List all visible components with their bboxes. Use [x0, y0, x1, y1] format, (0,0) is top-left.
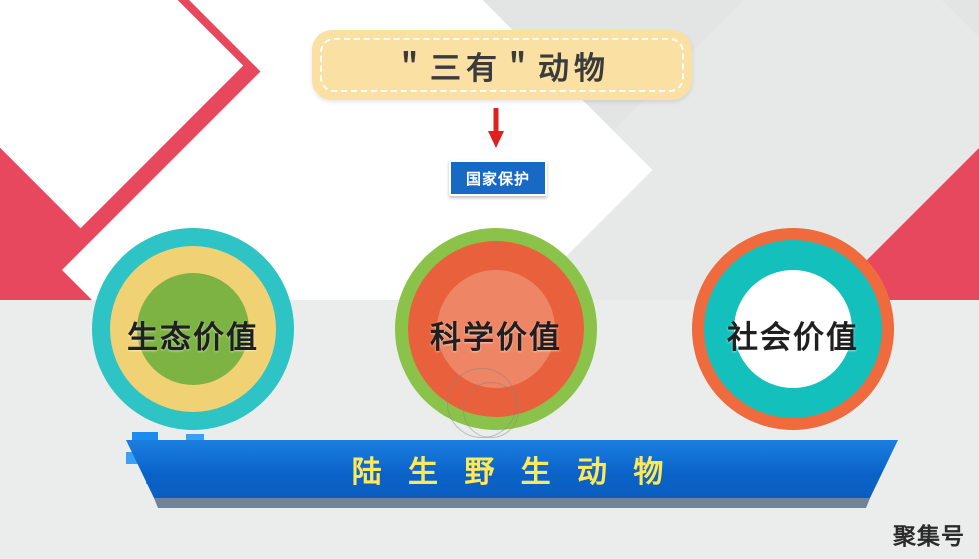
value-label-ecological: 生态价值	[63, 312, 323, 357]
national-protection-label: 国家保护	[449, 160, 547, 196]
national-protection-text: 国家保护	[466, 168, 530, 189]
banner-shadow	[126, 498, 898, 508]
title-badge: ＂三有＂动物	[312, 30, 692, 100]
poster-canvas: ＂三有＂动物 国家保护 生态价值 科学价值 社会价值	[0, 0, 979, 559]
bottom-banner: 陆 生 野 生 动 物	[126, 440, 898, 498]
decorative-outline-circle-2	[463, 382, 519, 438]
down-arrow-icon	[488, 108, 504, 148]
bottom-banner-text: 陆 生 野 生 动 物	[352, 447, 673, 491]
title-badge-dashed-border: ＂三有＂动物	[320, 38, 684, 92]
value-label-scientific: 科学价值	[366, 312, 626, 357]
value-label-social: 社会价值	[663, 312, 923, 357]
watermark: 聚集号	[893, 517, 965, 551]
title-text: ＂三有＂动物	[394, 43, 610, 88]
